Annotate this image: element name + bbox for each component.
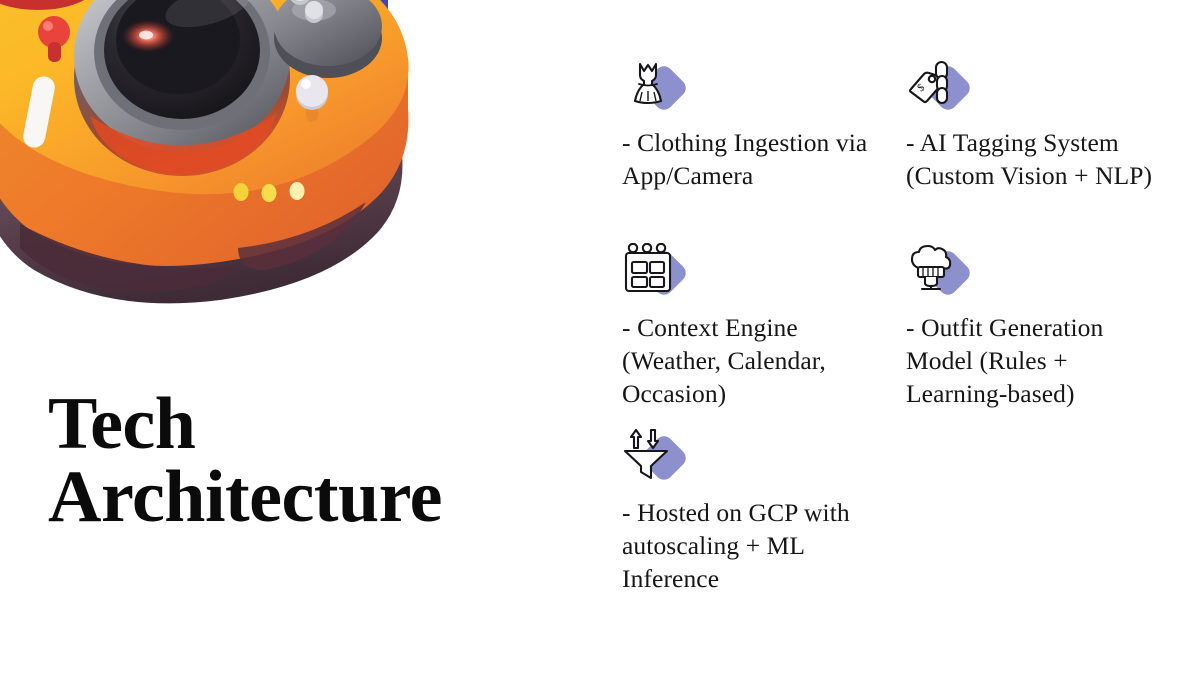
price-tag-chain-icon: $ (906, 58, 958, 110)
title-line-2: Architecture (48, 461, 568, 534)
funnel-filter-icon (622, 428, 674, 480)
chef-hat-icon (906, 243, 958, 295)
feature-list: - Clothing Ingestion via App/Camera $ (622, 58, 1178, 658)
slide-canvas: Tech Architecture (0, 0, 1200, 675)
title-line-1: Tech (48, 388, 568, 461)
feature-label: - Context Engine (Weather, Calendar, Occ… (622, 311, 884, 410)
icon-container (622, 58, 684, 114)
feature-item-outfit-generation: - Outfit Generation Model (Rules + Learn… (906, 243, 1168, 410)
dress-icon (622, 58, 674, 110)
feature-item-ai-tagging: $ - AI Tagging System (Custom Vision + N… (906, 58, 1168, 192)
page-title: Tech Architecture (48, 388, 568, 535)
icon-container: $ (906, 58, 968, 114)
icon-container (622, 428, 684, 484)
icon-container (906, 243, 968, 299)
feature-item-gcp-hosting: - Hosted on GCP with autoscaling + ML In… (622, 428, 884, 595)
3d-toy-camera-illustration (0, 0, 440, 348)
icon-container (622, 243, 684, 299)
calendar-icon (622, 243, 674, 295)
feature-label: - Hosted on GCP with autoscaling + ML In… (622, 496, 884, 595)
feature-label: - Clothing Ingestion via App/Camera (622, 126, 884, 192)
feature-label: - AI Tagging System (Custom Vision + NLP… (906, 126, 1168, 192)
feature-item-clothing-ingestion: - Clothing Ingestion via App/Camera (622, 58, 884, 192)
feature-item-context-engine: - Context Engine (Weather, Calendar, Occ… (622, 243, 884, 410)
feature-label: - Outfit Generation Model (Rules + Learn… (906, 311, 1168, 410)
